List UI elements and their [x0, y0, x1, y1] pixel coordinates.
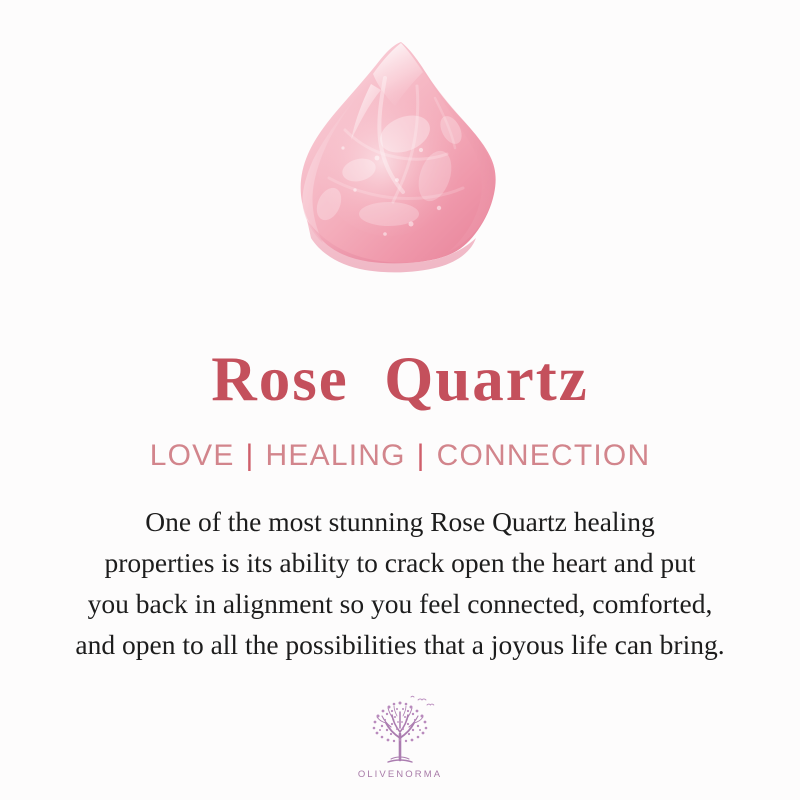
description-line-3: you back in alignment so you feel connec… — [20, 583, 780, 624]
brand-name: OLIVENORMA — [358, 769, 442, 780]
page-title: Rose Quartz — [211, 348, 588, 411]
description-paragraph: One of the most stunning Rose Quartz hea… — [20, 501, 780, 665]
rose-quartz-info-card: Rose Quartz LOVE | HEALING | CONNECTION … — [0, 0, 800, 800]
description-line-2: properties is its ability to crack open … — [20, 542, 780, 583]
tree-birds — [411, 696, 434, 705]
tree-of-life-icon — [361, 694, 439, 766]
keyword-healing: HEALING — [266, 439, 406, 473]
keyword-connection: CONNECTION — [437, 439, 651, 473]
keyword-separator-1: | — [235, 439, 266, 473]
description-line-4: and open to all the possibilities that a… — [20, 624, 780, 665]
description-line-1: One of the most stunning Rose Quartz hea… — [20, 501, 780, 542]
keyword-love: LOVE — [150, 439, 235, 473]
brand-logo: OLIVENORMA — [0, 694, 800, 780]
rose-quartz-crystal-image — [285, 38, 515, 278]
hero-image-container — [0, 0, 800, 300]
keyword-separator-2: | — [406, 439, 437, 473]
keyword-tagline: LOVE | HEALING | CONNECTION — [150, 439, 651, 473]
